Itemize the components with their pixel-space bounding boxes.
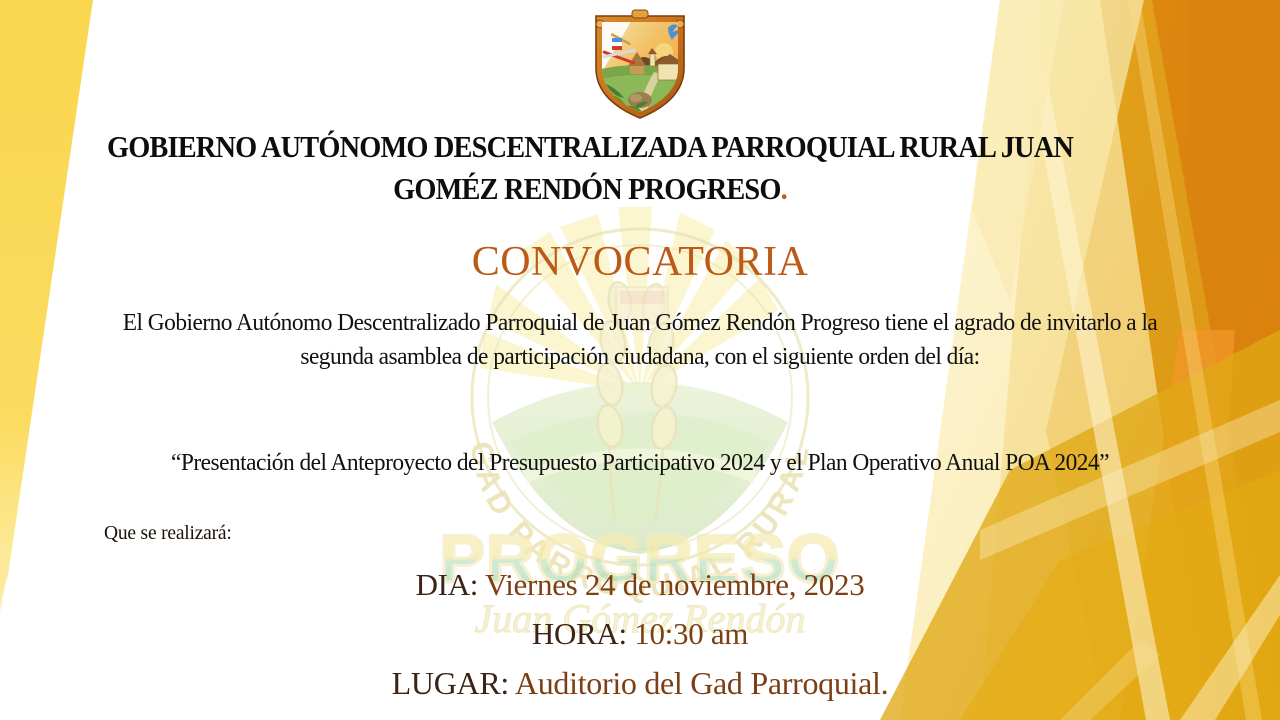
detail-line-place: LUGAR: Auditorio del Gad Parroquial. — [0, 665, 1280, 702]
detail-value-place: Auditorio del Gad Parroquial. — [515, 665, 888, 701]
detail-label-place: LUGAR: — [392, 665, 509, 701]
page-title: GOBIERNO AUTÓNOMO DESCENTRALIZADA PARROQ… — [106, 126, 1073, 211]
org-title-line-1: GOBIERNO AUTÓNOMO DESCENTRALIZADA PARROQ… — [107, 130, 1073, 164]
org-title-period: . — [781, 172, 787, 206]
slide-canvas: GAD PARROQUIAL RURAL PROGRESO Juan Gómez… — [0, 0, 1280, 720]
convocatoria-heading: CONVOCATORIA — [0, 238, 1280, 286]
detail-line-day: DIA: Viernes 24 de noviembre, 2023 — [0, 567, 1280, 603]
agenda-paragraph: “Presentación del Anteproyecto del Presu… — [101, 446, 1178, 480]
detail-line-time: HORA: 10:30 am — [0, 616, 1280, 652]
detail-label-time: HORA: — [532, 616, 627, 651]
intro-paragraph: El Gobierno Autónomo Descentralizado Par… — [101, 306, 1178, 374]
flyer-content: GOBIERNO AUTÓNOMO DESCENTRALIZADA PARROQ… — [0, 0, 1280, 720]
realizara-label: Que se realizará: — [104, 523, 232, 545]
detail-value-time: 10:30 am — [634, 616, 748, 651]
detail-label-day: DIA: — [416, 567, 479, 602]
detail-value-day: Viernes 24 de noviembre, 2023 — [485, 567, 864, 602]
org-title-line-2: GOMÉZ RENDÓN PROGRESO — [393, 172, 780, 206]
